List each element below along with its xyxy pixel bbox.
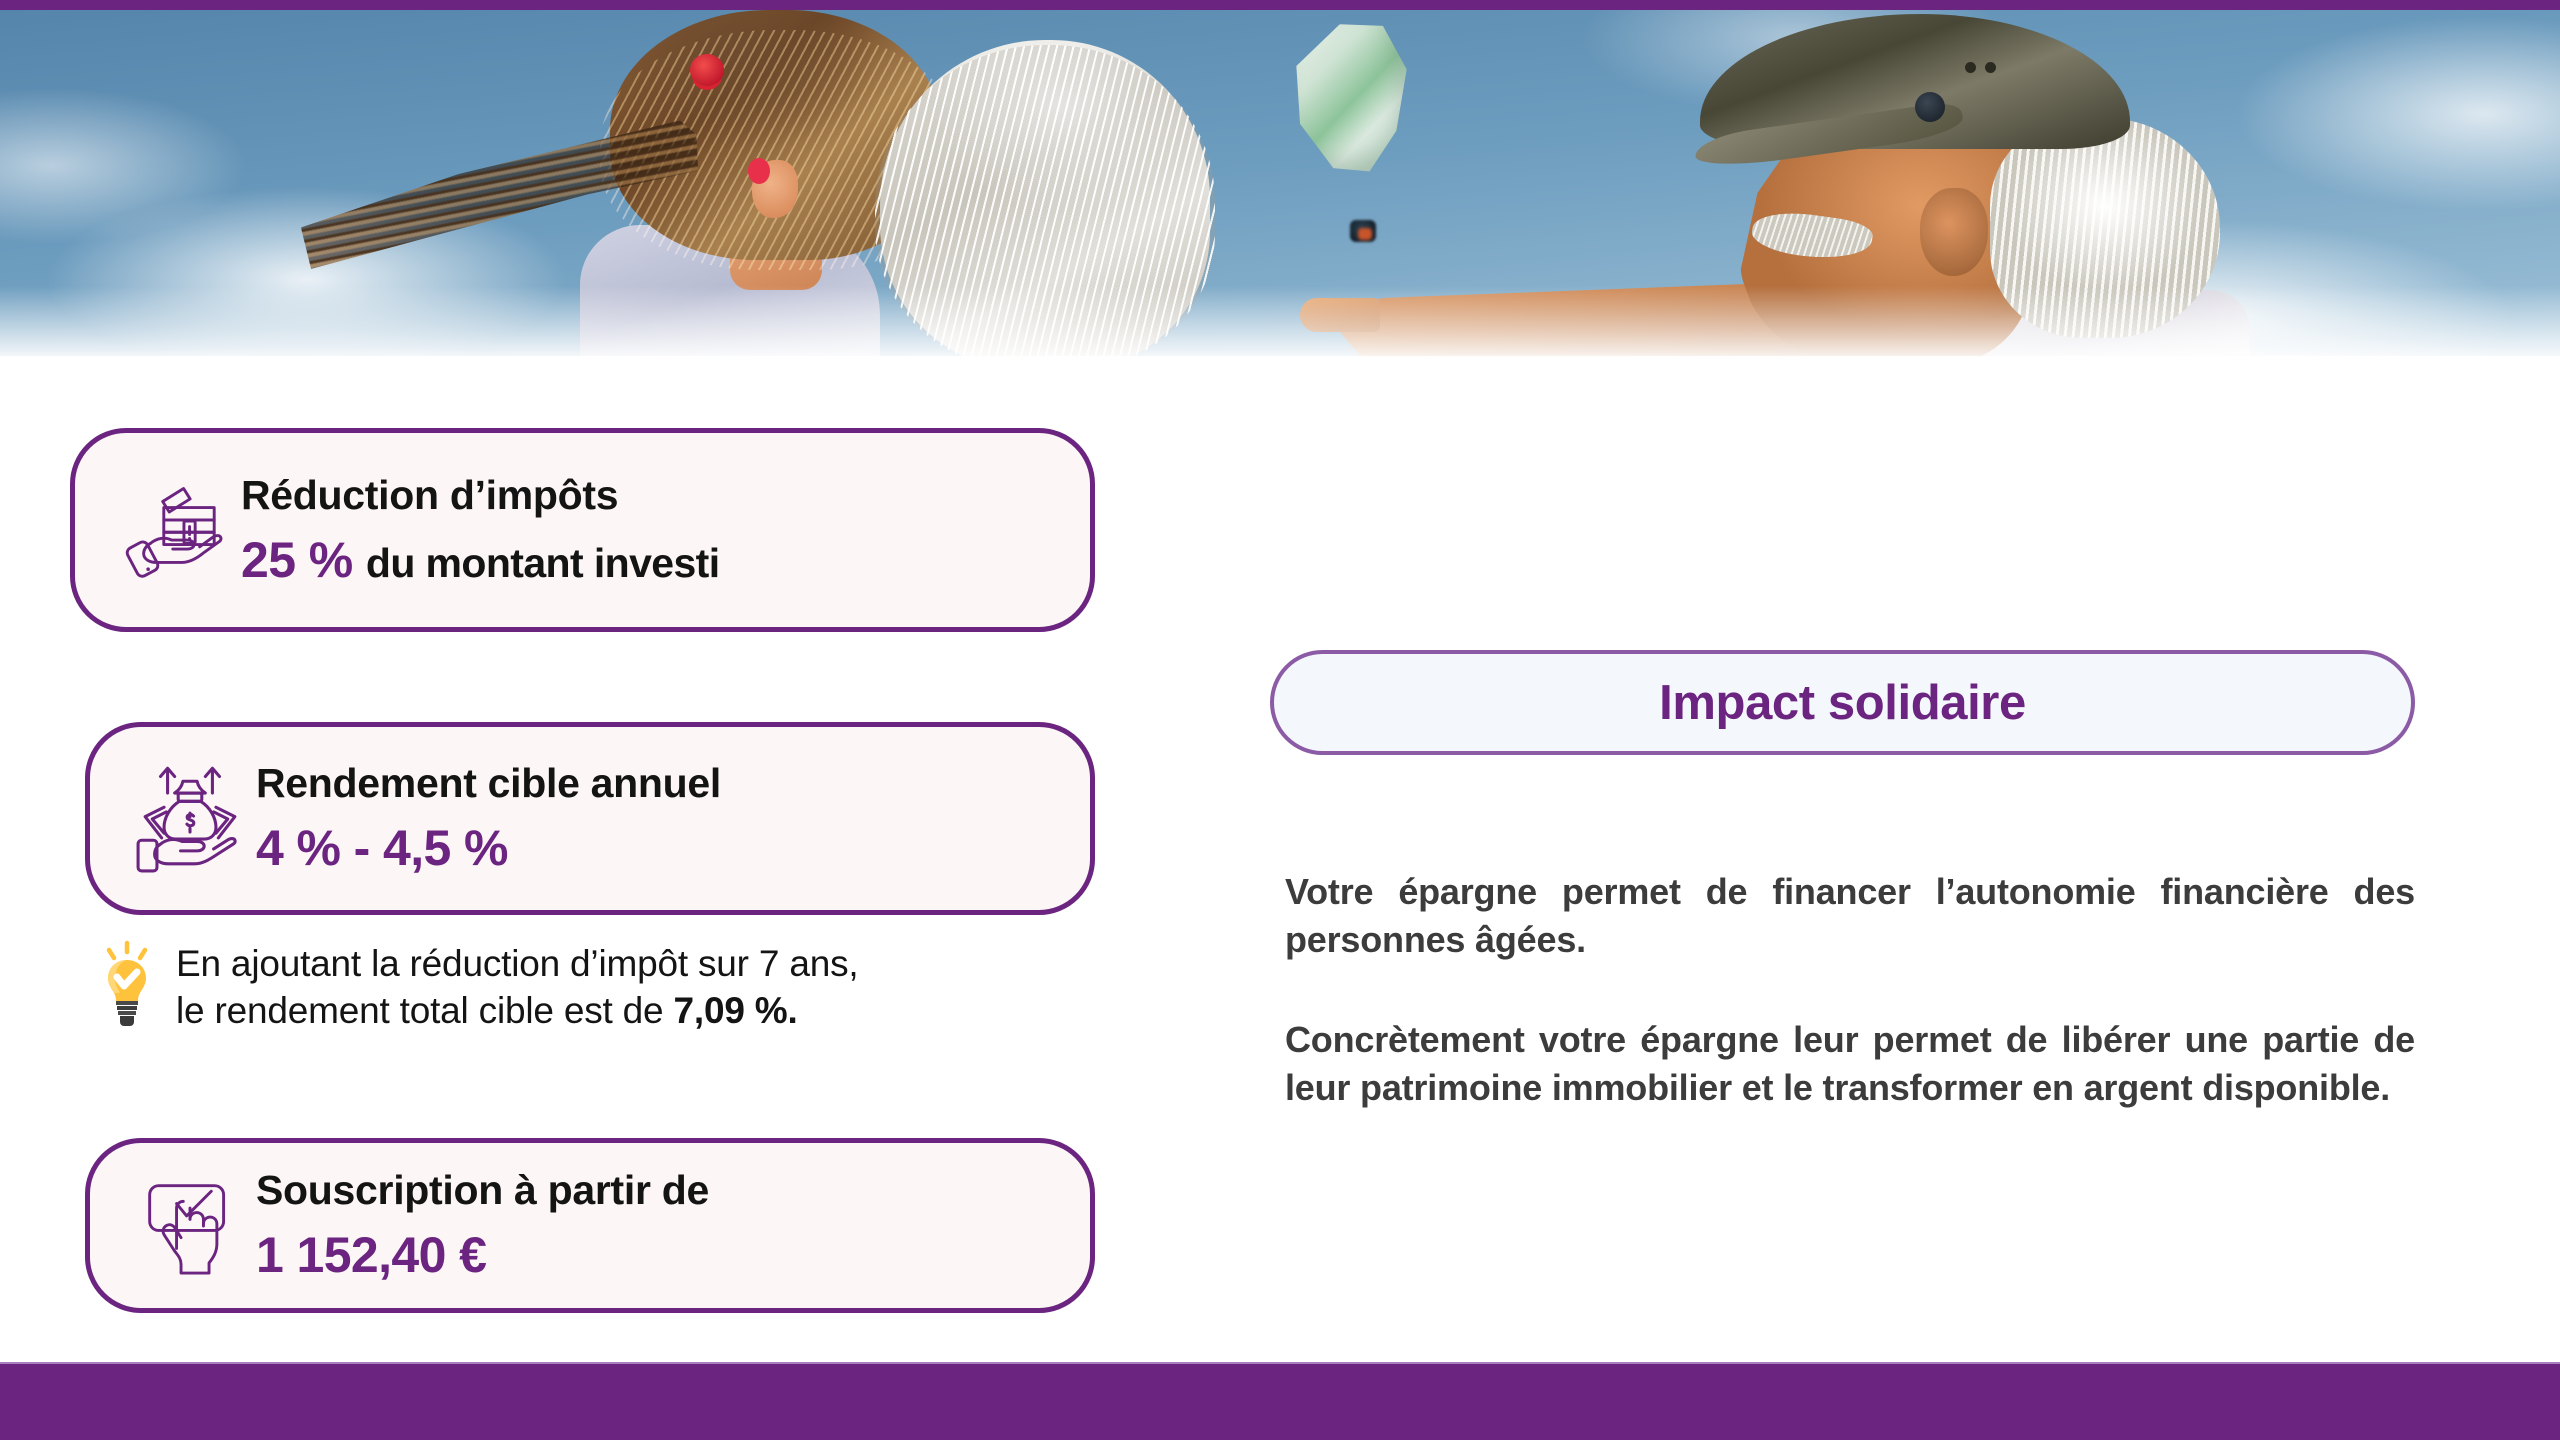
cap-badge xyxy=(1915,92,1945,122)
cap-eyelets xyxy=(1965,62,2011,74)
top-accent-bar xyxy=(0,0,2560,10)
hand-holding-banknotes-icon xyxy=(109,474,241,586)
paraglider-icon xyxy=(1290,24,1420,174)
tip-note: En ajoutant la réduction d’impôt sur 7 a… xyxy=(100,940,1100,1035)
card-value-number: 25 % xyxy=(241,532,353,588)
lightbulb-check-icon xyxy=(100,940,154,1033)
girl-scrunchie xyxy=(690,54,724,86)
card-minimum-subscription: Souscription à partir de 1 152,40 € xyxy=(85,1138,1095,1313)
tip-text: En ajoutant la réduction d’impôt sur 7 a… xyxy=(176,940,858,1035)
card-title: Réduction d’impôts xyxy=(241,472,1090,519)
bottom-accent-bar xyxy=(0,1364,2560,1440)
card-title: Rendement cible annuel xyxy=(256,760,1090,807)
card-target-yield: Rendement cible annuel 4 % - 4,5 % xyxy=(85,722,1095,915)
impact-paragraph-2: Concrètement votre épargne leur permet d… xyxy=(1285,1016,2415,1112)
hand-holding-money-bag-growth-icon xyxy=(124,760,256,878)
impact-solidaire-header: Impact solidaire xyxy=(1270,650,2415,755)
grandfather-ear xyxy=(1920,188,1988,276)
card-value: 25 % du montant investi xyxy=(241,531,1090,589)
card-value-suffix: du montant investi xyxy=(366,540,720,586)
card-value: 1 152,40 € xyxy=(256,1226,1090,1284)
tip-line-2-prefix: le rendement total cible est de xyxy=(176,990,674,1031)
hand-tapping-checkbox-icon xyxy=(124,1170,256,1282)
impact-paragraph-1: Votre épargne permet de financer l’auton… xyxy=(1285,868,2415,964)
card-value: 4 % - 4,5 % xyxy=(256,819,1090,877)
impact-solidaire-label: Impact solidaire xyxy=(1659,675,2026,731)
hero-photo xyxy=(0,10,2560,356)
cloud-band xyxy=(0,286,2560,356)
tip-line-2-highlight: 7,09 %. xyxy=(674,990,798,1031)
card-tax-reduction: Réduction d’impôts 25 % du montant inves… xyxy=(70,428,1095,632)
girl-hair-clip xyxy=(748,158,770,184)
tip-line-1: En ajoutant la réduction d’impôt sur 7 a… xyxy=(176,943,858,984)
card-title: Souscription à partir de xyxy=(256,1167,1090,1214)
